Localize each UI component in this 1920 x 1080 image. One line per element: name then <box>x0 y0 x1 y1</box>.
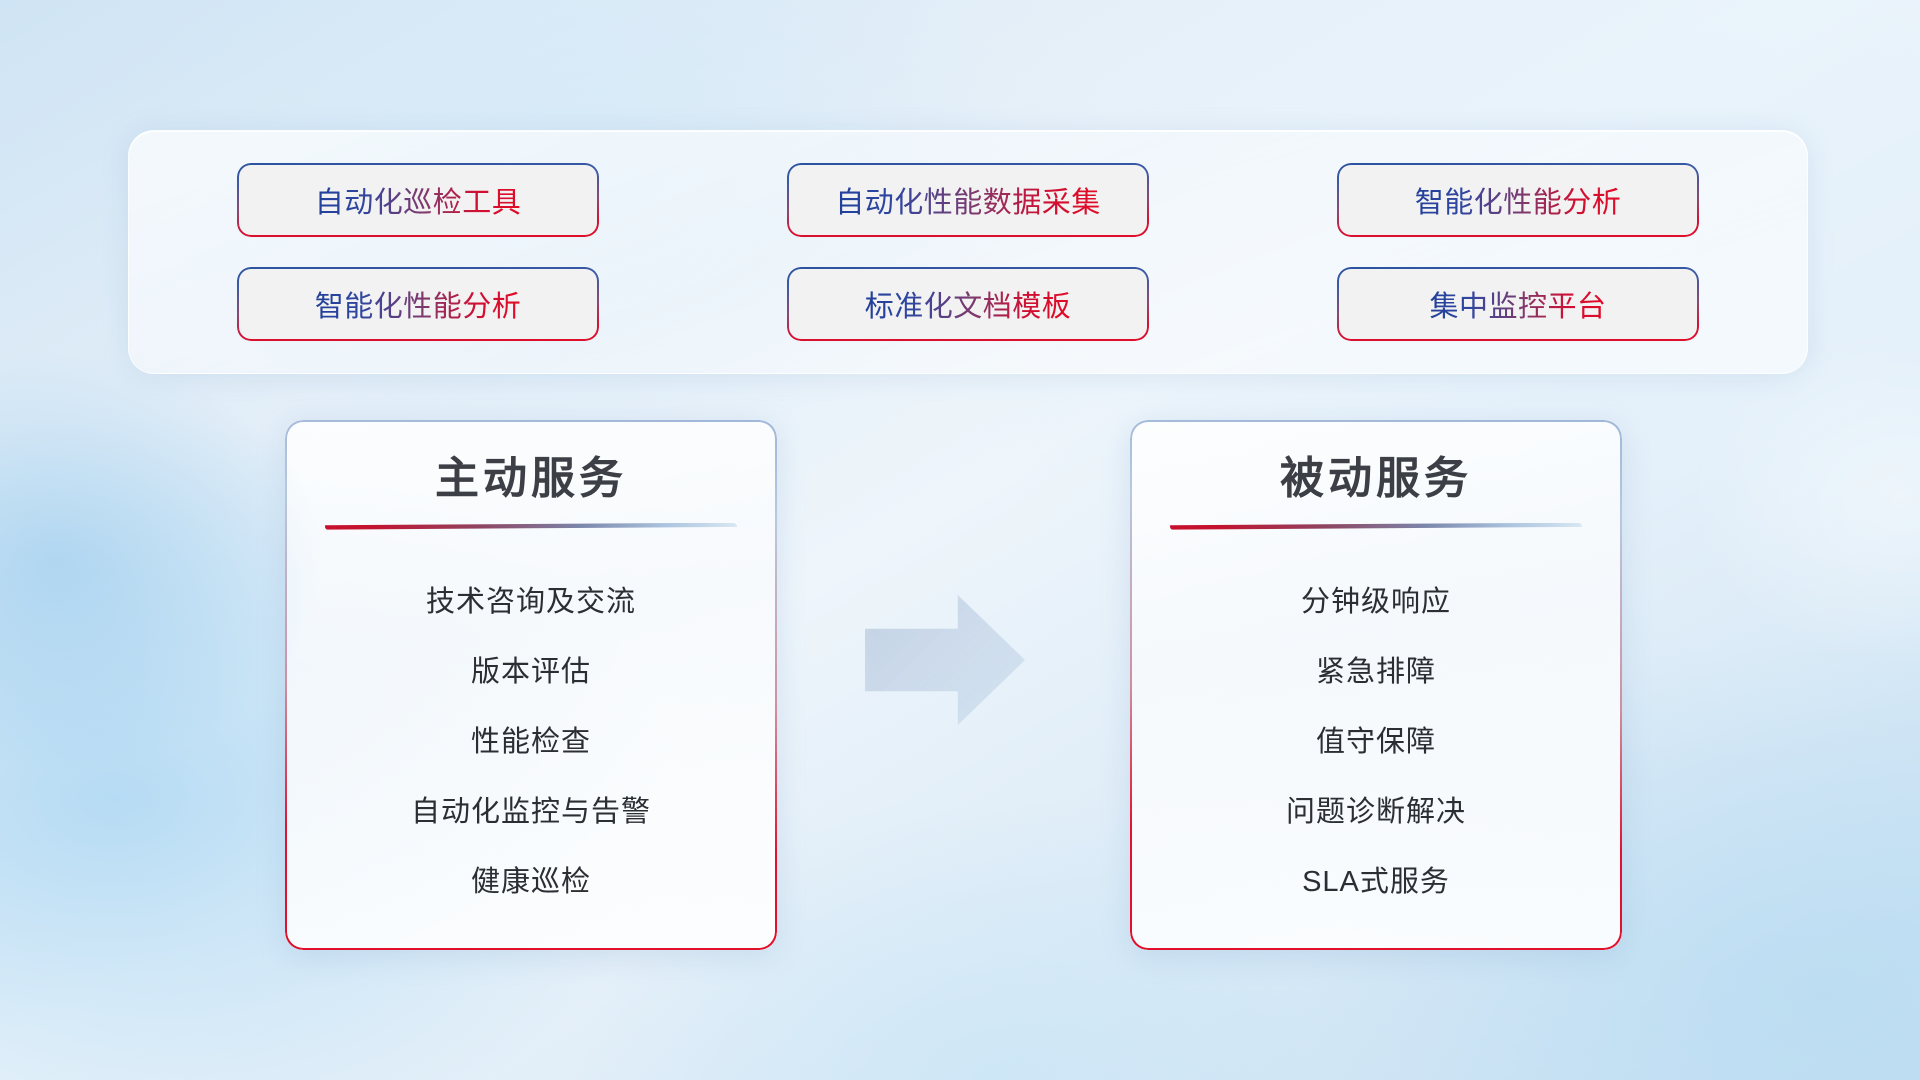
list-item: 紧急排障 <box>1164 634 1588 704</box>
capability-pill-label: 自动化性能数据采集 <box>835 179 1101 221</box>
active-service-card: 主动服务 技术咨询及交流 版本评估 性能检查 自动化监控与告警 健康巡检 <box>285 420 777 950</box>
list-item: 自动化监控与告警 <box>319 774 743 844</box>
list-item: 健康巡检 <box>319 844 743 914</box>
list-item: 版本评估 <box>319 634 743 704</box>
title-divider <box>1170 523 1582 530</box>
capability-pill-label: 集中监控平台 <box>1429 283 1606 325</box>
passive-service-title: 被动服务 <box>1164 454 1588 505</box>
capability-pill-6[interactable]: 集中监控平台 <box>1339 269 1697 339</box>
capability-pill-1[interactable]: 自动化巡检工具 <box>239 165 597 235</box>
list-item: SLA式服务 <box>1164 844 1588 914</box>
capability-pill-4[interactable]: 智能化性能分析 <box>239 269 597 339</box>
title-divider <box>325 523 737 530</box>
slide-canvas: 自动化巡检工具 自动化性能数据采集 智能化性能分析 智能化性能分析 标准化文档模… <box>0 0 1920 1080</box>
list-item: 值守保障 <box>1164 704 1588 774</box>
list-item: 分钟级响应 <box>1164 564 1588 634</box>
capability-pill-5[interactable]: 标准化文档模板 <box>789 269 1147 339</box>
passive-service-list: 分钟级响应 紧急排障 值守保障 问题诊断解决 SLA式服务 <box>1164 564 1588 914</box>
capability-panel: 自动化巡检工具 自动化性能数据采集 智能化性能分析 智能化性能分析 标准化文档模… <box>128 130 1808 374</box>
capability-pill-3[interactable]: 智能化性能分析 <box>1339 165 1697 235</box>
list-item: 技术咨询及交流 <box>319 564 743 634</box>
capability-pill-2[interactable]: 自动化性能数据采集 <box>789 165 1147 235</box>
capability-pill-label: 智能化性能分析 <box>1415 179 1622 221</box>
active-service-title: 主动服务 <box>319 454 743 505</box>
capability-pill-label: 智能化性能分析 <box>315 283 522 325</box>
arrow-right-icon <box>865 595 1025 725</box>
list-item: 性能检查 <box>319 704 743 774</box>
list-item: 问题诊断解决 <box>1164 774 1588 844</box>
capability-pill-label: 标准化文档模板 <box>865 283 1072 325</box>
capability-pill-label: 自动化巡检工具 <box>315 179 522 221</box>
passive-service-card: 被动服务 分钟级响应 紧急排障 值守保障 问题诊断解决 SLA式服务 <box>1130 420 1622 950</box>
active-service-list: 技术咨询及交流 版本评估 性能检查 自动化监控与告警 健康巡检 <box>319 564 743 914</box>
